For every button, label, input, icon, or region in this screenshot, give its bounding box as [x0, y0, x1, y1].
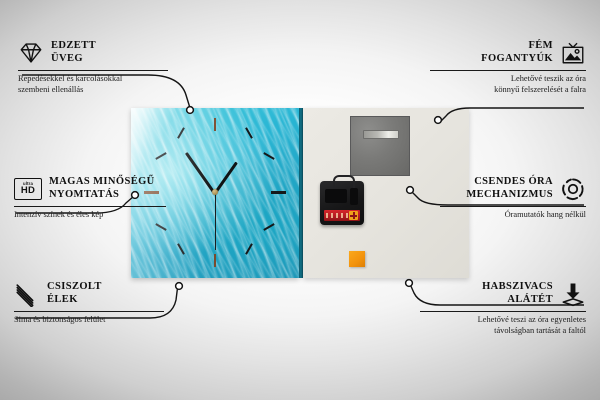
clock-tick-12	[214, 118, 216, 131]
clock-minute-hand	[185, 152, 216, 195]
callout-desc-line1: Intenzív színek és éles kép	[14, 210, 166, 221]
connector-endpoint-polished-edges	[176, 283, 183, 290]
product-image-group	[131, 108, 469, 278]
callout-desc-line2: távolságban tartását a faltól	[420, 326, 586, 337]
callout-title-line2: MECHANIZMUS	[466, 189, 553, 202]
callout-header: CSENDES ÓRA MECHANIZMUS	[440, 176, 586, 202]
callout-tempered-glass[interactable]: EDZETT ÜVEG Repedésekkel és karcolásokka…	[18, 40, 168, 96]
callout-desc-line1: Sima és biztonságos felület	[14, 315, 164, 326]
callout-desc-line2: könnyű felszerelését a falra	[430, 85, 586, 96]
clock-tick-2	[263, 152, 274, 160]
callout-header: CSISZOLT ÉLEK	[14, 281, 164, 307]
callout-title-line2: NYOMTATÁS	[49, 189, 155, 202]
callout-title-line2: ALÁTÉT	[482, 294, 553, 307]
callout-title-line1: CSISZOLT	[47, 281, 102, 294]
callout-desc-line1: Lehetővé teszik az óra	[430, 74, 586, 85]
clock-tick-11	[177, 127, 185, 138]
mechanism-groove-left	[325, 189, 347, 203]
ultra-hd-icon: ultra HD	[14, 178, 42, 200]
clock-tick-10	[155, 152, 166, 160]
clock-center-pin	[212, 189, 218, 195]
callout-title-line1: MAGAS MINŐSÉGŰ	[49, 176, 155, 189]
callout-desc-line1: Repedésekkel és karcolásokkal	[18, 74, 168, 85]
picture-hanger-icon	[560, 40, 586, 66]
connector-endpoint-foam-pad	[406, 280, 413, 287]
battery	[324, 210, 360, 221]
clock-tick-7	[177, 243, 185, 254]
callout-title-line2: FOGANTYÚK	[481, 53, 553, 66]
callout-desc-line2: szembeni ellenállás	[18, 85, 168, 96]
clock-tick-4	[263, 223, 274, 231]
clock-tick-5	[245, 243, 253, 254]
clock-hour-hand	[214, 162, 239, 195]
callout-hd-print[interactable]: ultra HD MAGAS MINŐSÉGŰ NYOMTATÁS Intenz…	[14, 176, 166, 221]
callout-header: ultra HD MAGAS MINŐSÉGŰ NYOMTATÁS	[14, 176, 166, 202]
polished-edge-lines-icon	[14, 281, 40, 307]
callout-title-line2: ÉLEK	[47, 294, 102, 307]
hanger-slot	[363, 130, 399, 139]
foam-pad-arrow-icon	[560, 281, 586, 307]
clock-tick-8	[155, 223, 166, 231]
callout-header: EDZETT ÜVEG	[18, 40, 168, 66]
callout-title-line1: FÉM	[481, 40, 553, 53]
quartz-mechanism	[320, 181, 364, 225]
clock-tick-1	[245, 127, 253, 138]
infographic-canvas: EDZETT ÜVEG Repedésekkel és karcolásokka…	[0, 0, 600, 400]
diamond-icon	[18, 40, 44, 66]
callout-silent-mechanism[interactable]: CSENDES ÓRA MECHANIZMUS Óramutatók hang …	[440, 176, 586, 221]
callout-divider	[18, 70, 168, 71]
callout-divider	[440, 206, 586, 207]
callout-header: FÉM FOGANTYÚK	[430, 40, 586, 66]
callout-divider	[14, 311, 164, 312]
foam-pad	[349, 251, 365, 267]
callout-divider	[420, 311, 586, 312]
clock-tick-3	[271, 191, 286, 194]
mechanism-hanging-loop	[333, 175, 355, 188]
callout-foam-pad[interactable]: HABSZIVACS ALÁTÉT Lehetővé teszi az óra …	[420, 281, 586, 337]
callout-divider	[430, 70, 586, 71]
gear-icon	[560, 176, 586, 202]
callout-title-line1: EDZETT	[51, 40, 96, 53]
callout-title-line1: CSENDES ÓRA	[466, 176, 553, 189]
callout-divider	[14, 206, 166, 207]
ultra-hd-icon-main-text: HD	[21, 186, 35, 196]
battery-plus-terminal	[349, 211, 358, 220]
callout-desc-line1: Lehetővé teszi az óra egyenletes	[420, 315, 586, 326]
callout-title-line2: ÜVEG	[51, 53, 96, 66]
callout-title-line1: HABSZIVACS	[482, 281, 553, 294]
clock-second-hand	[215, 192, 216, 250]
mechanism-groove-right	[350, 188, 358, 205]
metal-hanger-plate	[350, 116, 410, 176]
callout-header: HABSZIVACS ALÁTÉT	[420, 281, 586, 307]
clock-tick-6	[214, 254, 216, 267]
callout-desc-line1: Óramutatók hang nélkül	[440, 210, 586, 221]
callout-polished-edges[interactable]: CSISZOLT ÉLEK Sima és biztonságos felüle…	[14, 281, 164, 326]
callout-metal-handles[interactable]: FÉM FOGANTYÚK Lehetővé teszik az óra kön…	[430, 40, 586, 96]
